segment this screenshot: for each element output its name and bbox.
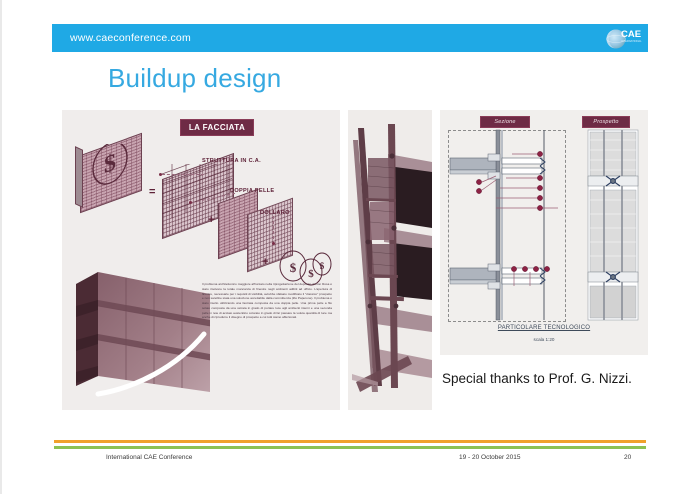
infographic-body-text: Il problema architettonico maggiore affr… — [202, 282, 332, 320]
footer-conference-name: International CAE Conference — [106, 454, 192, 461]
svg-text:INTERNATIONAL CONFERENCE: INTERNATIONAL CONFERENCE — [621, 39, 642, 43]
footer-date: 19 - 20 October 2015 — [459, 454, 520, 461]
infographic-banner: LA FACCIATA — [180, 119, 254, 136]
leader-line-1 — [162, 174, 204, 175]
operator-plus-1: + — [208, 214, 214, 226]
section-drawing — [440, 110, 648, 325]
technological-detail-drawing: Sezione Prospetto — [440, 110, 648, 355]
label-doppia-pelle: DOPPIA PELLE — [230, 188, 274, 194]
operator-plus-2: + — [262, 256, 268, 268]
slide: www.caeconference.com CAE INTERNATIONAL … — [0, 0, 700, 494]
cae-logo: CAE INTERNATIONAL CONFERENCE — [600, 25, 642, 51]
footer-rule-orange — [54, 440, 646, 443]
slide-left-edge — [0, 0, 2, 494]
header-url[interactable]: www.caeconference.com — [70, 32, 191, 44]
technical-scale: scala 1:20 — [440, 337, 648, 342]
special-thanks-text: Special thanks to Prof. G. Nizzi. — [442, 370, 652, 388]
facade-3d-render — [64, 260, 214, 410]
leader-dot-3 — [272, 242, 275, 245]
svg-text:$: $ — [290, 260, 297, 275]
perspective-structure — [348, 110, 432, 410]
operator-equals: = — [149, 186, 155, 198]
leader-dot-1 — [159, 173, 162, 176]
svg-text:$: $ — [320, 261, 325, 271]
header-bar: www.caeconference.com CAE INTERNATIONAL … — [52, 24, 648, 52]
facade-perspective-render — [348, 110, 432, 410]
label-struttura: STRUTTURA IN C.A. — [202, 158, 261, 164]
slide-title: Buildup design — [108, 63, 281, 94]
svg-text:CAE: CAE — [621, 29, 641, 40]
dollar-symbol-icon: $ — [80, 144, 140, 206]
footer-page-number: 20 — [624, 454, 631, 461]
svg-text:$: $ — [104, 149, 116, 180]
la-facciata-infographic: LA FACCIATA $ = — [62, 110, 340, 410]
globe-icon: CAE INTERNATIONAL CONFERENCE — [600, 25, 642, 51]
technical-caption: PARTICOLARE TECNOLOGICO — [440, 325, 648, 331]
svg-text:$: $ — [308, 268, 314, 280]
label-dollaro: DOLLARO — [260, 210, 290, 216]
leader-line-3 — [273, 216, 274, 244]
dollar-panel-side — [75, 146, 83, 208]
footer-rule-green — [54, 446, 646, 449]
leader-dot-2 — [189, 201, 192, 204]
